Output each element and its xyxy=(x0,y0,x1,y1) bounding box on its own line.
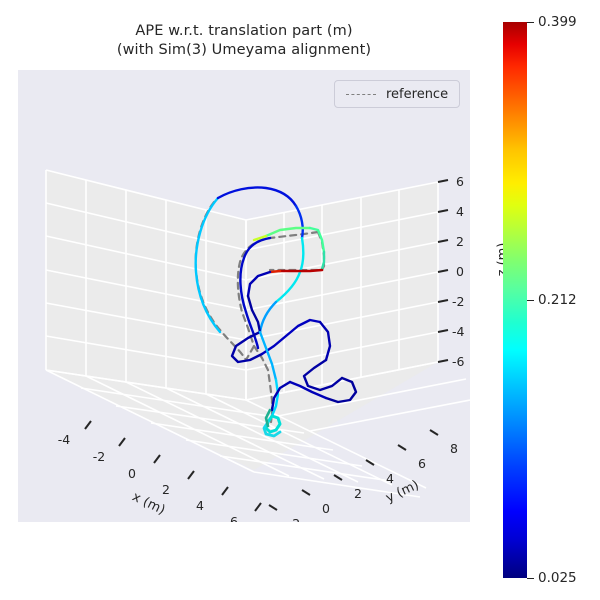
y-tick-label: 8 xyxy=(450,441,458,456)
colorbar: 0.399 0.212 0.025 xyxy=(503,22,527,578)
z-axis-tick-labels: 6 4 2 0 -2 -4 -6 xyxy=(452,174,465,369)
x-tick-label: -4 xyxy=(58,432,71,447)
y-tick-label: 6 xyxy=(418,456,426,471)
y-tick-label: 4 xyxy=(386,471,394,486)
z-tick-label: -2 xyxy=(452,294,464,309)
chart-title: APE w.r.t. translation part (m) (with Si… xyxy=(18,22,470,60)
chart-title-line-2: (with Sim(3) Umeyama alignment) xyxy=(18,41,470,60)
z-tick-label: 6 xyxy=(456,174,464,189)
plot-area-3d: -4 -2 0 2 4 6 x (m) -2 0 2 4 xyxy=(18,70,470,522)
colorbar-tick-max xyxy=(527,22,534,23)
colorbar-tick-min xyxy=(527,578,534,579)
x-tick-label: 4 xyxy=(196,498,204,513)
chart-title-line-1: APE w.r.t. translation part (m) xyxy=(18,22,470,41)
axes-svg: -4 -2 0 2 4 6 x (m) -2 0 2 4 xyxy=(18,70,470,522)
z-tick-label: 0 xyxy=(456,264,464,279)
z-tick-label: 4 xyxy=(456,204,464,219)
colorbar-gradient xyxy=(503,22,527,578)
z-tick-label: 2 xyxy=(456,234,464,249)
figure-canvas: APE w.r.t. translation part (m) (with Si… xyxy=(0,0,600,600)
y-tick-label: 2 xyxy=(354,486,362,501)
z-axis-ticks xyxy=(438,180,448,362)
colorbar-label-min: 0.025 xyxy=(538,570,577,586)
legend-dashed-line-icon xyxy=(346,94,376,95)
colorbar-label-max: 0.399 xyxy=(538,14,577,30)
x-tick-label: 6 xyxy=(230,514,238,522)
y-tick-label: 0 xyxy=(322,501,330,516)
x-tick-label: 0 xyxy=(128,466,136,481)
z-tick-label: -6 xyxy=(452,354,465,369)
y-tick-label: -2 xyxy=(288,516,300,522)
colorbar-label-mid: 0.212 xyxy=(538,292,577,308)
x-tick-label: -2 xyxy=(93,449,105,464)
z-tick-label: -4 xyxy=(452,324,465,339)
legend-label-reference: reference xyxy=(386,87,448,102)
colorbar-tick-mid xyxy=(527,300,534,301)
legend[interactable]: reference xyxy=(334,80,460,108)
x-tick-label: 2 xyxy=(162,482,170,497)
